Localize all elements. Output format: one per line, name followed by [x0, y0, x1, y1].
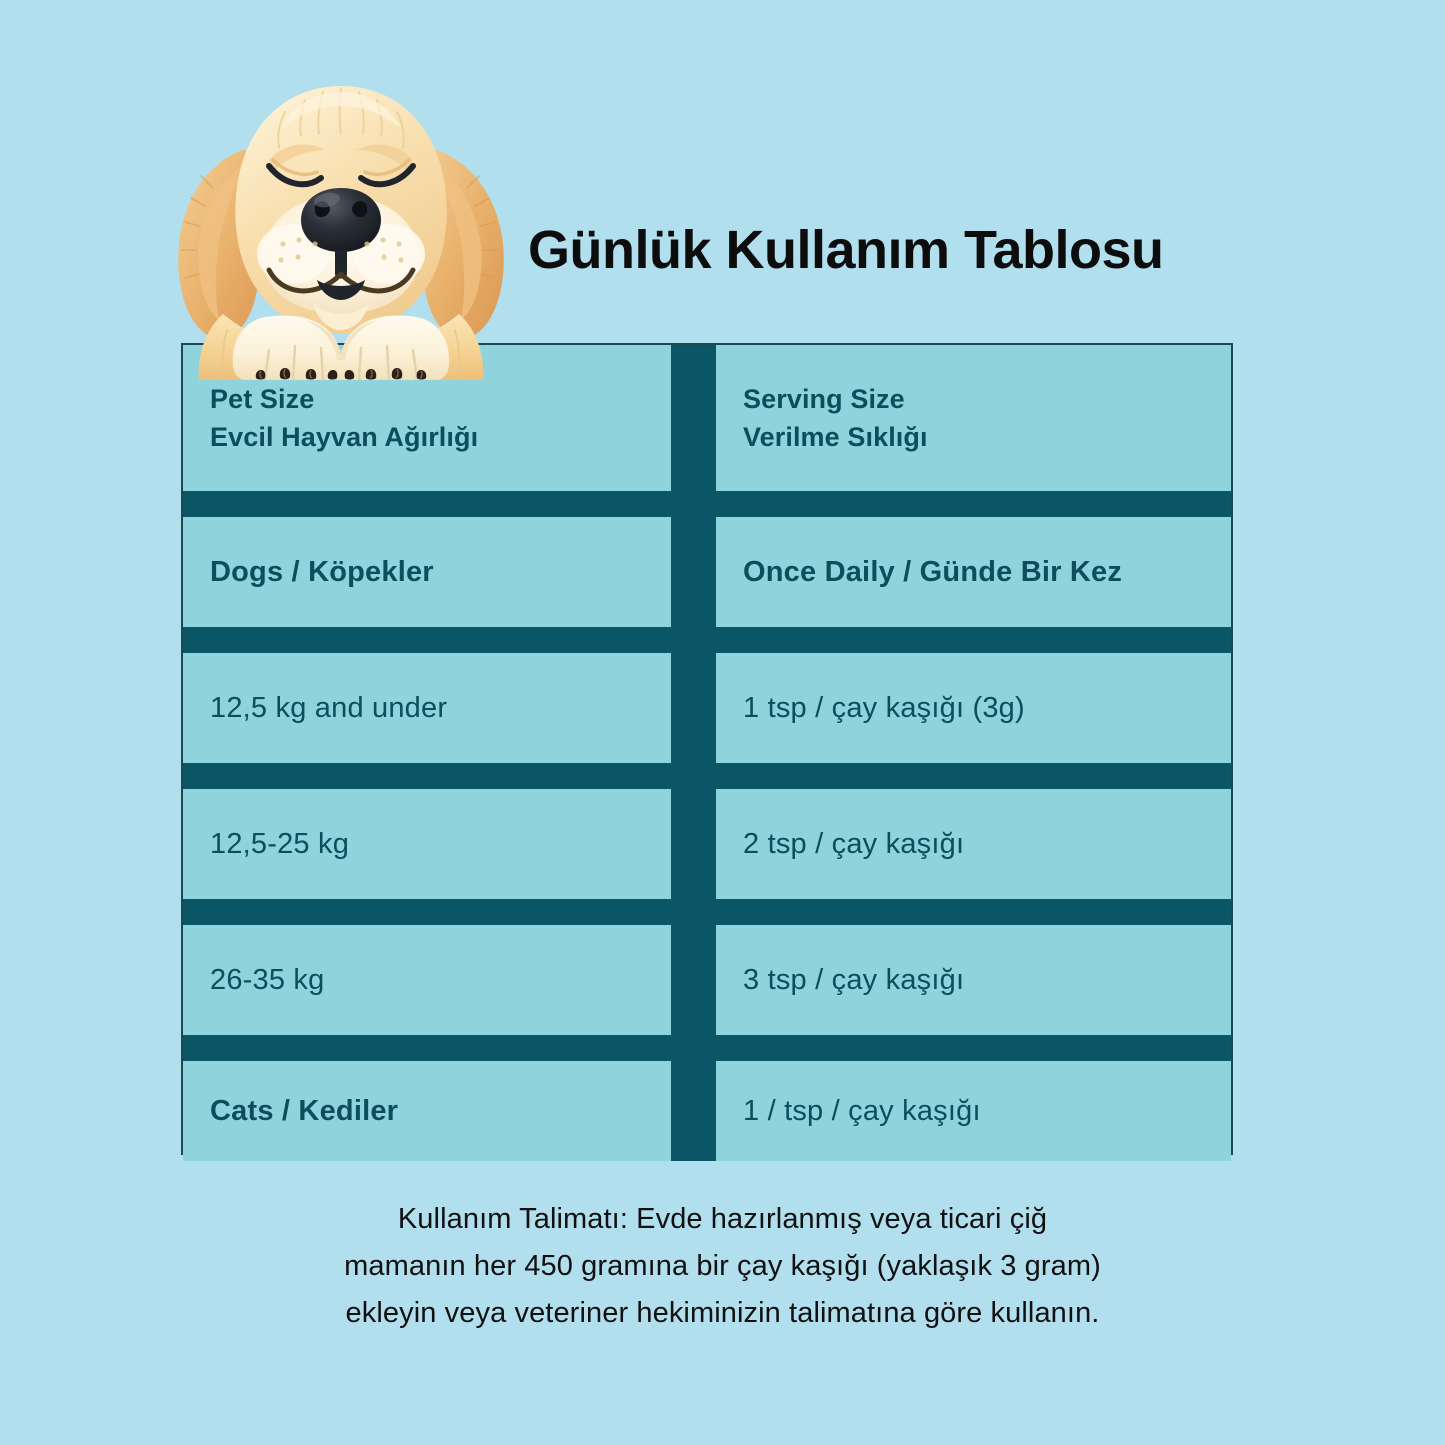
serving-size-value: 1 / tsp / çay kaşığı — [743, 1094, 1213, 1129]
cell-pet-size: 12,5-25 kg — [183, 789, 671, 899]
cell-pet-size: 12,5 kg and under — [183, 653, 671, 763]
cell-pet-size: 26-35 kg — [183, 925, 671, 1035]
column-divider — [671, 517, 716, 627]
serving-size-value: 3 tsp / çay kaşığı — [743, 963, 1213, 998]
header-serving-size-tr: Verilme Sıklığı — [743, 418, 1213, 456]
header-serving-size-en: Serving Size — [743, 380, 1213, 418]
usage-instructions-line1: Kullanım Talimatı: Evde hazırlanmış veya… — [0, 1196, 1445, 1243]
cell-pet-size: Dogs / Köpekler — [183, 517, 671, 627]
column-divider — [671, 789, 716, 899]
table-row: 26-35 kg 3 tsp / çay kaşığı — [183, 925, 1231, 1035]
cell-serving-size: 1 / tsp / çay kaşığı — [716, 1061, 1231, 1161]
usage-instructions: Kullanım Talimatı: Evde hazırlanmış veya… — [0, 1196, 1445, 1337]
table-row: Cats / Kediler 1 / tsp / çay kaşığı — [183, 1061, 1231, 1161]
cell-serving-size: 2 tsp / çay kaşığı — [716, 789, 1231, 899]
cell-pet-size: Cats / Kediler — [183, 1061, 671, 1161]
pet-size-value: 12,5-25 kg — [210, 827, 653, 862]
poster-page: Günlük Kullanım Tablosu Pet Size Evcil H… — [0, 0, 1445, 1445]
cell-serving-size: 1 tsp / çay kaşığı (3g) — [716, 653, 1231, 763]
daily-usage-table: Pet Size Evcil Hayvan Ağırlığı Serving S… — [181, 343, 1233, 1155]
column-divider — [671, 345, 716, 491]
pet-size-value: Cats / Kediler — [210, 1094, 653, 1129]
pet-size-value: 12,5 kg and under — [210, 691, 653, 726]
serving-size-value: 2 tsp / çay kaşığı — [743, 827, 1213, 862]
cell-serving-size: 3 tsp / çay kaşığı — [716, 925, 1231, 1035]
table-row: 12,5 kg and under 1 tsp / çay kaşığı (3g… — [183, 653, 1231, 763]
table-row: Dogs / Köpekler Once Daily / Günde Bir K… — [183, 517, 1231, 627]
cell-serving-size: Once Daily / Günde Bir Kez — [716, 517, 1231, 627]
serving-size-value: Once Daily / Günde Bir Kez — [743, 555, 1213, 590]
golden-retriever-puppy-icon — [165, 78, 517, 380]
pet-size-value: 26-35 kg — [210, 963, 653, 998]
table-row: 12,5-25 kg 2 tsp / çay kaşığı — [183, 789, 1231, 899]
header-pet-size-tr: Evcil Hayvan Ağırlığı — [210, 418, 653, 456]
column-divider — [671, 925, 716, 1035]
page-title: Günlük Kullanım Tablosu — [528, 222, 1164, 279]
column-divider — [671, 653, 716, 763]
header-pet-size-en: Pet Size — [210, 380, 653, 418]
column-divider — [671, 1061, 716, 1161]
usage-instructions-line2: mamanın her 450 gramına bir çay kaşığı (… — [0, 1243, 1445, 1290]
pet-size-value: Dogs / Köpekler — [210, 555, 653, 590]
table-header-row: Pet Size Evcil Hayvan Ağırlığı Serving S… — [183, 345, 1231, 491]
header-cell-pet-size: Pet Size Evcil Hayvan Ağırlığı — [183, 345, 671, 491]
serving-size-value: 1 tsp / çay kaşığı (3g) — [743, 691, 1213, 726]
usage-instructions-line3: ekleyin veya veteriner hekiminizin talim… — [0, 1290, 1445, 1337]
header-cell-serving-size: Serving Size Verilme Sıklığı — [716, 345, 1231, 491]
